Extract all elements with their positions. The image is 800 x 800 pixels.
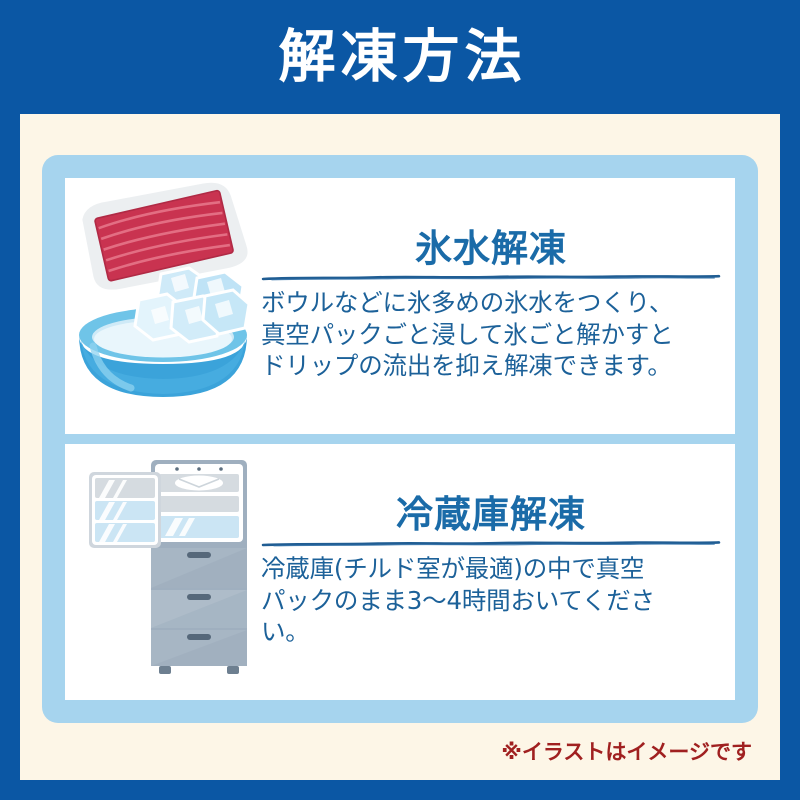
card-text-ice-water: ボウルなどに氷多めの氷水をつくり、 真空パックごと浸して氷ごと解かすと ドリップ… xyxy=(261,287,721,383)
card-title-ice-water: 氷水解凍 xyxy=(261,230,721,269)
method-card-ice-water: 氷水解凍 ボウルなどに氷多めの氷水をつくり、 真空パックごと浸して氷ごと解かすと… xyxy=(65,178,735,434)
refrigerator-text-block: 冷蔵庫解凍 冷蔵庫(チルド室が最適)の中で真空 パックのまま3〜4時間おいてくだ… xyxy=(261,496,735,648)
content-area: 氷水解凍 ボウルなどに氷多めの氷水をつくり、 真空パックごと浸して氷ごと解かすと… xyxy=(20,114,780,780)
card-text-refrigerator: 冷蔵庫(チルド室が最適)の中で真空 パックのまま3〜4時間おいてくださ い。 xyxy=(261,553,721,649)
ice-water-text-block: 氷水解凍 ボウルなどに氷多めの氷水をつくり、 真空パックごと浸して氷ごと解かすと… xyxy=(261,230,735,382)
page-title: 解凍方法 xyxy=(274,29,527,86)
ice-water-bowl-illustration xyxy=(65,178,261,434)
method-card-refrigerator: 冷蔵庫解凍 冷蔵庫(チルド室が最適)の中で真空 パックのまま3〜4時間おいてくだ… xyxy=(65,444,735,700)
hand-drawn-divider xyxy=(261,540,721,547)
methods-panel: 氷水解凍 ボウルなどに氷多めの氷水をつくり、 真空パックごと浸して氷ごと解かすと… xyxy=(42,155,758,723)
card-title-refrigerator: 冷蔵庫解凍 xyxy=(261,496,721,535)
poster-root: 解凍方法 xyxy=(0,0,800,800)
illustration-disclaimer: ※イラストはイメージです xyxy=(501,736,752,766)
header-banner: 解凍方法 xyxy=(0,0,800,114)
hand-drawn-divider xyxy=(261,274,721,281)
refrigerator-illustration xyxy=(65,444,261,700)
